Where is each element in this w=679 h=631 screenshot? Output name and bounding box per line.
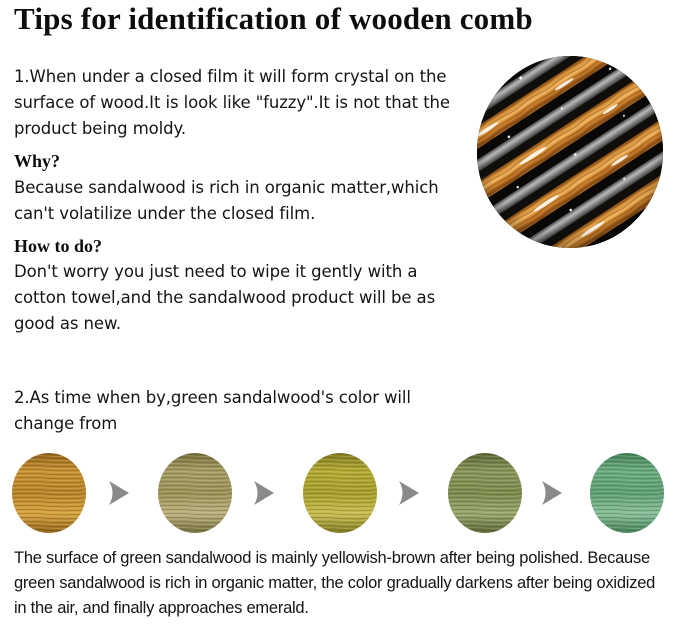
heading-how-to-do: How to do?	[14, 235, 102, 257]
wooden-comb-tips-infographic: Tips for identification of wooden comb 1…	[0, 0, 679, 631]
paragraph-why-answer: Because sandalwood is rich in organic ma…	[14, 175, 462, 227]
paragraph-emerald-explanation: The surface of green sandalwood is mainl…	[14, 546, 664, 621]
swatch-emerald	[590, 453, 664, 533]
swatch-golden-brown	[12, 453, 86, 533]
arrow-right-icon	[105, 478, 133, 508]
arrow-right-icon	[538, 478, 566, 508]
swatch-olive-green	[448, 453, 522, 533]
swatch-yellow-olive	[303, 453, 377, 533]
page-title: Tips for identification of wooden comb	[14, 1, 666, 37]
paragraph-crystal-explanation: 1.When under a closed film it will form …	[14, 64, 462, 142]
color-progression-row	[0, 452, 679, 534]
arrow-right-icon	[395, 478, 423, 508]
arrow-right-icon	[250, 478, 278, 508]
comb-teeth-macro-photo	[477, 56, 663, 248]
heading-why: Why?	[14, 150, 60, 172]
paragraph-color-change-intro: 2.As time when by,green sandalwood's col…	[14, 385, 462, 437]
paragraph-how-to-answer: Don't worry you just need to wipe it gen…	[14, 259, 462, 337]
swatch-khaki-olive	[158, 453, 232, 533]
